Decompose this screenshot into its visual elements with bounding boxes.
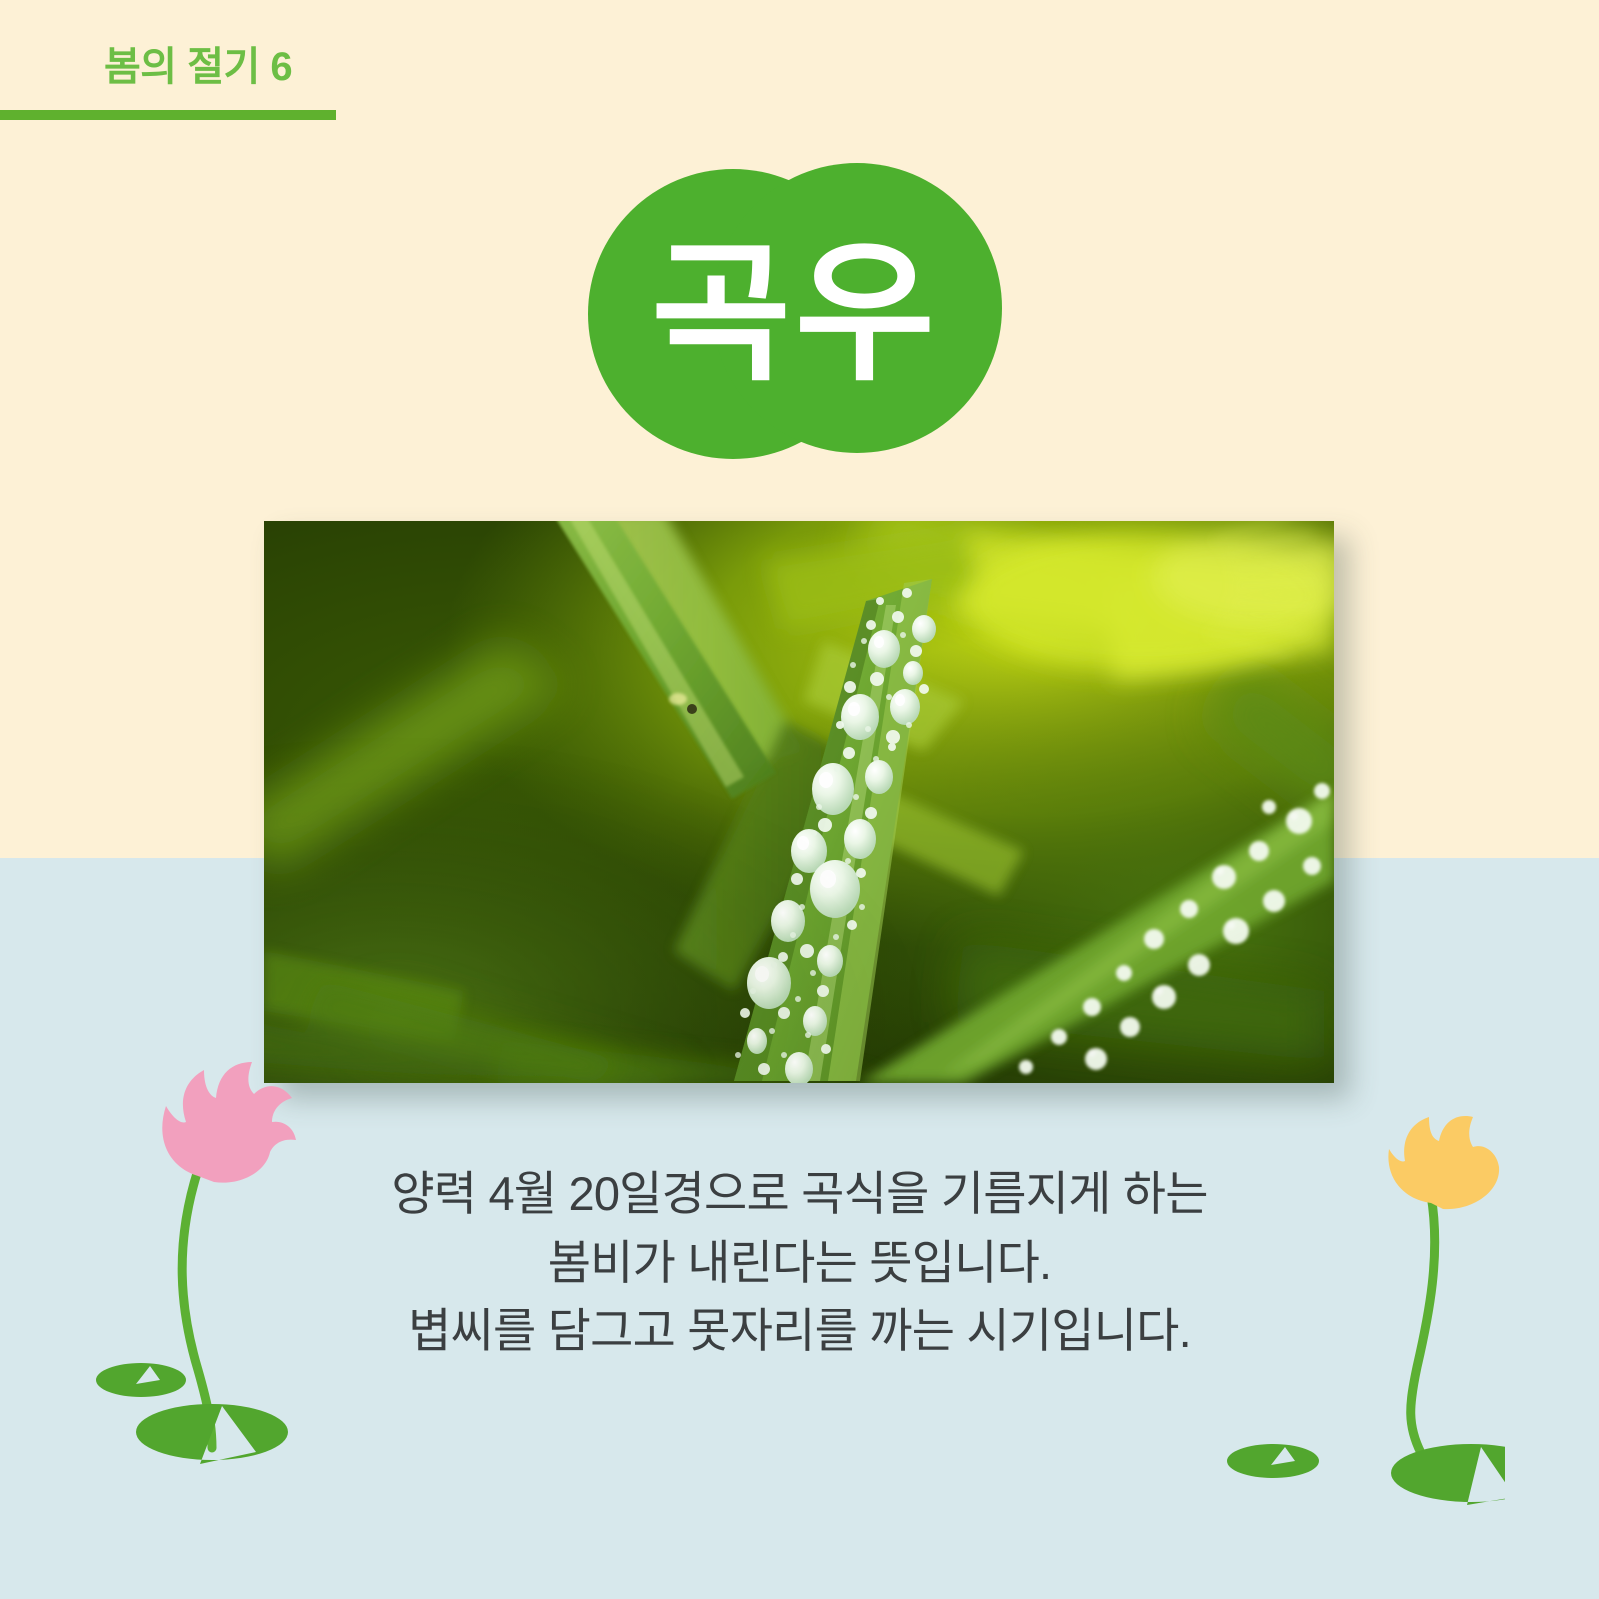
season-title-badge: 곡우: [588, 163, 1002, 459]
lotus-flower-pink-icon: [70, 1040, 350, 1480]
infographic-card: 봄의 절기 6 곡우: [0, 0, 1599, 1599]
page-kicker: 봄의 절기 6: [104, 34, 292, 92]
kicker-underline-rule: [0, 110, 336, 120]
hero-photo-dewdrops-on-grass: [264, 521, 1334, 1083]
hero-photo-frame: [264, 521, 1334, 1083]
lotus-flower-yellow-icon: [1185, 1105, 1505, 1525]
page-title: 곡우: [588, 163, 1002, 459]
